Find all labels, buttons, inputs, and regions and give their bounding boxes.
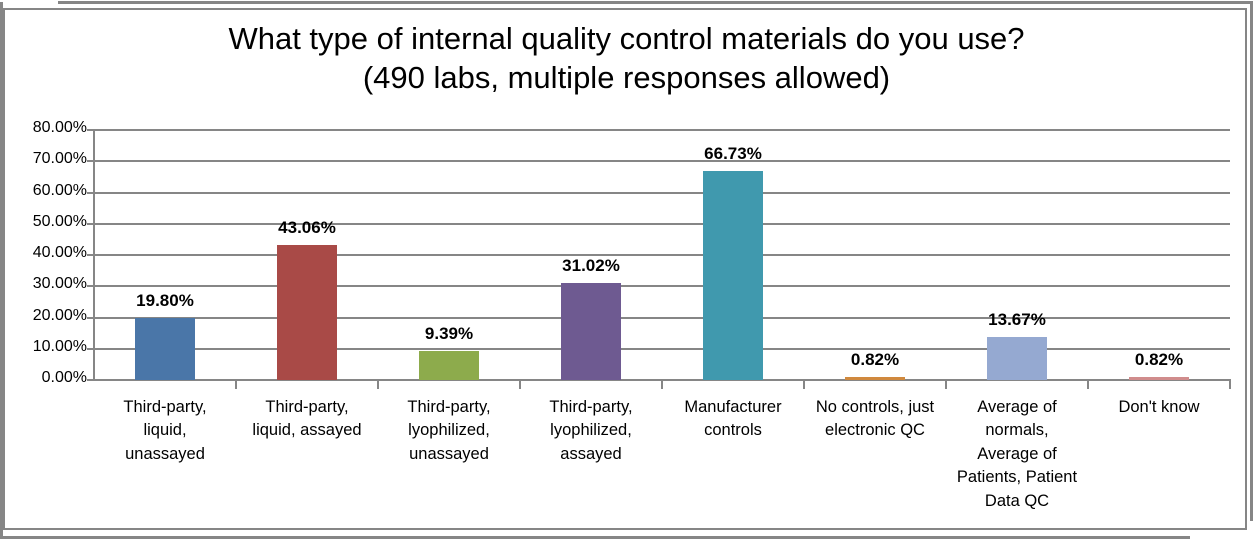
x-axis-category-label-line: No controls, just bbox=[808, 396, 942, 419]
x-axis-tick bbox=[377, 381, 379, 389]
x-axis-tick bbox=[235, 381, 237, 389]
gridline bbox=[94, 192, 1230, 194]
x-axis-category-label-line: liquid, assayed bbox=[240, 419, 374, 442]
bar-value-label: 0.82% bbox=[805, 350, 945, 370]
bar-value-label: 9.39% bbox=[379, 324, 519, 344]
bar-value-label: 31.02% bbox=[521, 256, 661, 276]
x-axis-category-label-line: controls bbox=[666, 419, 800, 442]
x-axis-category-label-line: lyophilized, bbox=[524, 419, 658, 442]
x-axis-category-label-line: Patients, Patient bbox=[950, 466, 1084, 489]
bar-value-label: 66.73% bbox=[663, 144, 803, 164]
x-axis-category-label-line: normals, bbox=[950, 419, 1084, 442]
x-axis-tick bbox=[519, 381, 521, 389]
x-axis-category-label: Third-party,lyophilized,unassayed bbox=[382, 396, 516, 466]
bar[interactable] bbox=[1129, 377, 1189, 380]
plot-area bbox=[94, 130, 1230, 380]
bar[interactable] bbox=[845, 377, 905, 380]
x-axis-category-label-line: Third-party, bbox=[382, 396, 516, 419]
x-axis-category-label: Don't know bbox=[1092, 396, 1226, 419]
gridline bbox=[94, 254, 1230, 256]
x-axis-category-label: Average ofnormals,Average ofPatients, Pa… bbox=[950, 396, 1084, 513]
bar[interactable] bbox=[135, 318, 195, 380]
x-axis-category-label-line: liquid, bbox=[98, 419, 232, 442]
x-axis-category-label: No controls, justelectronic QC bbox=[808, 396, 942, 443]
x-axis-category-label-line: lyophilized, bbox=[382, 419, 516, 442]
frame-top-edge bbox=[58, 1, 1253, 4]
bar-value-label: 43.06% bbox=[237, 218, 377, 238]
chart-container: What type of internal quality control ma… bbox=[0, 0, 1253, 542]
bar[interactable] bbox=[561, 283, 621, 380]
x-axis-category-label-line: Don't know bbox=[1092, 396, 1226, 419]
x-axis-category-label-line: Average of bbox=[950, 443, 1084, 466]
gridline bbox=[94, 285, 1230, 287]
x-axis-category-label-line: Third-party, bbox=[98, 396, 232, 419]
y-axis-tick-label: 10.00% bbox=[3, 338, 87, 356]
gridline bbox=[94, 129, 1230, 131]
x-axis-category-label: Manufacturercontrols bbox=[666, 396, 800, 443]
x-axis-tick bbox=[1229, 381, 1231, 389]
y-axis-tick-label: 40.00% bbox=[3, 244, 87, 262]
x-axis-category-label-line: Average of bbox=[950, 396, 1084, 419]
x-axis-category-label-line: unassayed bbox=[98, 443, 232, 466]
x-axis-tick bbox=[661, 381, 663, 389]
chart-title-line2: (490 labs, multiple responses allowed) bbox=[0, 59, 1253, 98]
chart-title-line1: What type of internal quality control ma… bbox=[228, 21, 1024, 56]
y-axis-tick-label: 60.00% bbox=[3, 182, 87, 200]
bar[interactable] bbox=[703, 171, 763, 380]
bar-value-label: 19.80% bbox=[95, 291, 235, 311]
x-axis-category-label: Third-party,liquid, assayed bbox=[240, 396, 374, 443]
y-axis-tick-label: 50.00% bbox=[3, 213, 87, 231]
gridline bbox=[94, 160, 1230, 162]
x-axis-category-label-line: assayed bbox=[524, 443, 658, 466]
y-axis-tick-label: 80.00% bbox=[3, 119, 87, 137]
bar[interactable] bbox=[987, 337, 1047, 380]
x-axis-category-label-line: Data QC bbox=[950, 490, 1084, 513]
x-axis-tick bbox=[945, 381, 947, 389]
x-axis-tick bbox=[803, 381, 805, 389]
y-axis-tick-label: 70.00% bbox=[3, 150, 87, 168]
x-axis-category-label-line: Third-party, bbox=[524, 396, 658, 419]
frame-bottom-edge bbox=[0, 536, 1190, 539]
x-axis-category-label-line: unassayed bbox=[382, 443, 516, 466]
x-axis-tick bbox=[1087, 381, 1089, 389]
bar-value-label: 13.67% bbox=[947, 310, 1087, 330]
chart-title: What type of internal quality control ma… bbox=[0, 20, 1253, 98]
y-axis-tick-label: 30.00% bbox=[3, 275, 87, 293]
x-axis-category-label: Third-party,liquid,unassayed bbox=[98, 396, 232, 466]
x-axis-category-label-line: Third-party, bbox=[240, 396, 374, 419]
bar[interactable] bbox=[277, 245, 337, 380]
bar-value-label: 0.82% bbox=[1089, 350, 1229, 370]
gridline bbox=[94, 348, 1230, 350]
x-axis-category-label: Third-party,lyophilized,assayed bbox=[524, 396, 658, 466]
x-axis-category-label-line: electronic QC bbox=[808, 419, 942, 442]
bar[interactable] bbox=[419, 351, 479, 380]
y-axis-tick-label: 0.00% bbox=[3, 369, 87, 387]
y-axis-tick-label: 20.00% bbox=[3, 307, 87, 325]
x-axis-category-label-line: Manufacturer bbox=[666, 396, 800, 419]
